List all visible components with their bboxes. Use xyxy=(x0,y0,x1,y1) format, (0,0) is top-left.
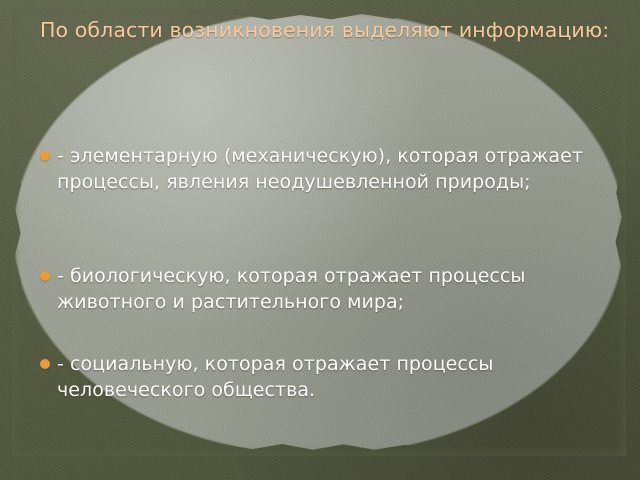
orange-dot-bullet-icon xyxy=(40,151,50,161)
bullet-text: - социальную, которая отражает процессы … xyxy=(57,351,606,403)
list-item: - элементарную (механическую), которая о… xyxy=(40,143,588,195)
list-item: - биологическую, которая отражает процес… xyxy=(40,263,606,315)
bullet-text: - биологическую, которая отражает процес… xyxy=(57,263,606,315)
presentation-slide: По области возникновения выделяют информ… xyxy=(0,0,640,480)
list-item: - социальную, которая отражает процессы … xyxy=(40,351,606,403)
orange-dot-bullet-icon xyxy=(40,359,50,369)
orange-dot-bullet-icon xyxy=(40,271,50,281)
slide-content: По области возникновения выделяют информ… xyxy=(0,0,640,480)
bullet-text: - элементарную (механическую), которая о… xyxy=(57,143,588,195)
slide-title: По области возникновения выделяют информ… xyxy=(40,17,612,43)
